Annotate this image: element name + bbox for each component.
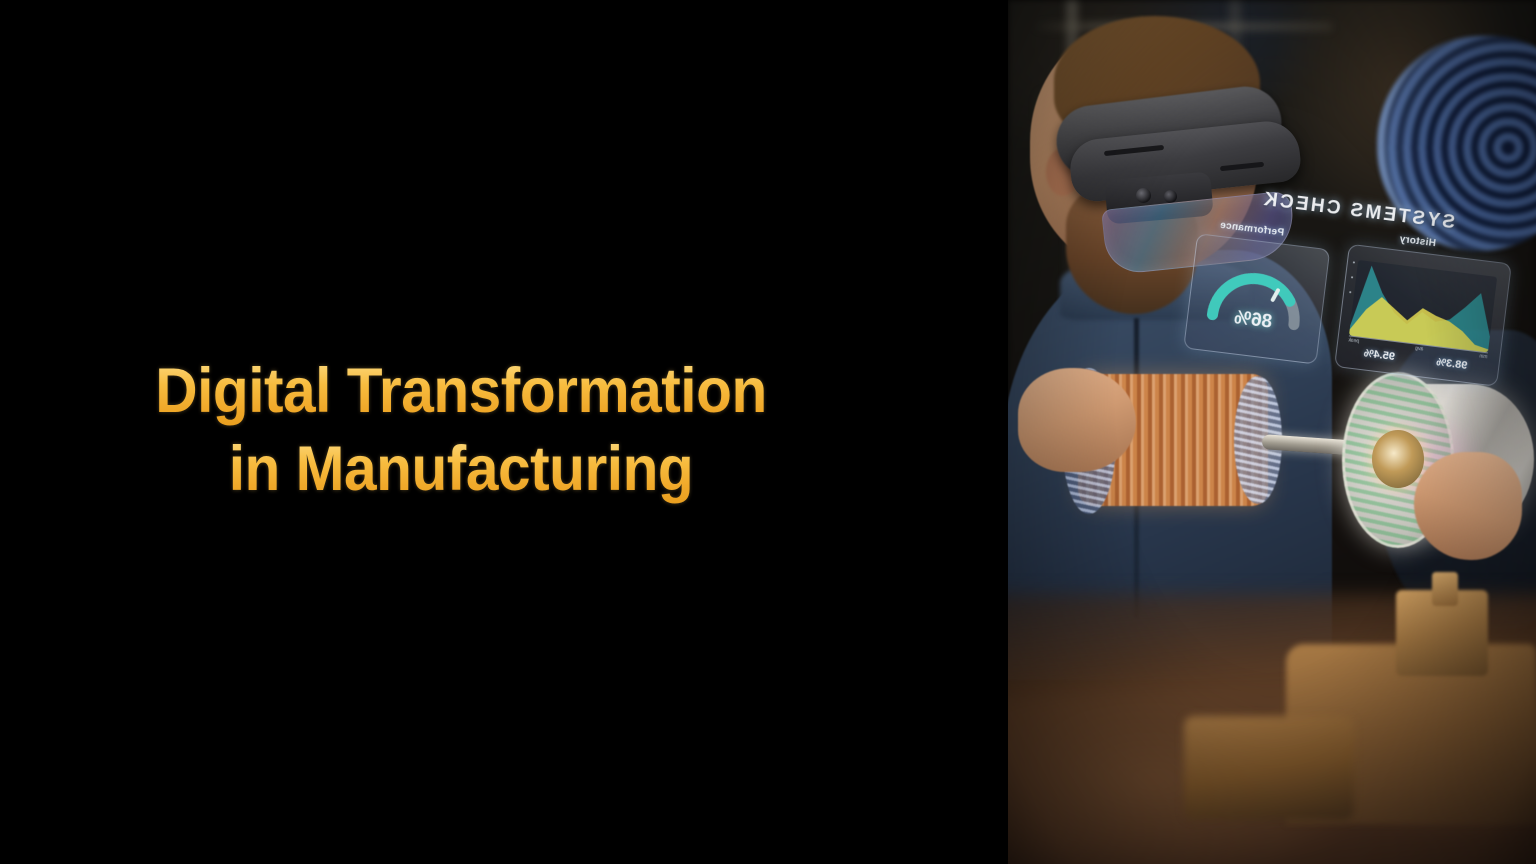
photo-panel: SYSTEMS CHECK History Performance min av…	[1008, 0, 1536, 864]
history-metric-primary: 98.3%	[1436, 356, 1468, 372]
title-panel: Digital Transformation in Manufacturing	[0, 0, 1008, 864]
chart-tick-peak: peak	[1348, 337, 1359, 344]
gauge-marker-icon	[1273, 290, 1278, 300]
worker-right-hand	[1414, 452, 1522, 560]
chart-tick-min: min	[1479, 353, 1488, 360]
foreground-nut	[1184, 716, 1354, 820]
hud-card-performance[interactable]: 86%	[1183, 233, 1330, 364]
foreground-bolt-cap-icon	[1432, 572, 1458, 606]
rotor-hub	[1372, 430, 1424, 488]
hud-card-label-performance: Performance	[1219, 220, 1284, 239]
worker-left-hand	[1018, 368, 1136, 472]
hud-card-label-history: History	[1399, 234, 1437, 249]
chart-tick-avg: avg	[1415, 346, 1424, 353]
title-line-1: Digital Transformation	[32, 352, 889, 430]
performance-gauge: 86%	[1202, 252, 1312, 334]
title-line-2: in Manufacturing	[32, 430, 889, 508]
history-metric-secondary: 95.4%	[1363, 347, 1395, 363]
hud-card-history[interactable]: min avg peak 98.3% 95.4%	[1334, 244, 1512, 387]
slide-title: Digital Transformation in Manufacturing	[0, 352, 1008, 508]
presentation-slide: Digital Transformation in Manufacturing	[0, 0, 1536, 864]
ar-headset-camera-secondary-icon	[1164, 190, 1177, 203]
ar-headset-camera-icon	[1136, 188, 1151, 203]
